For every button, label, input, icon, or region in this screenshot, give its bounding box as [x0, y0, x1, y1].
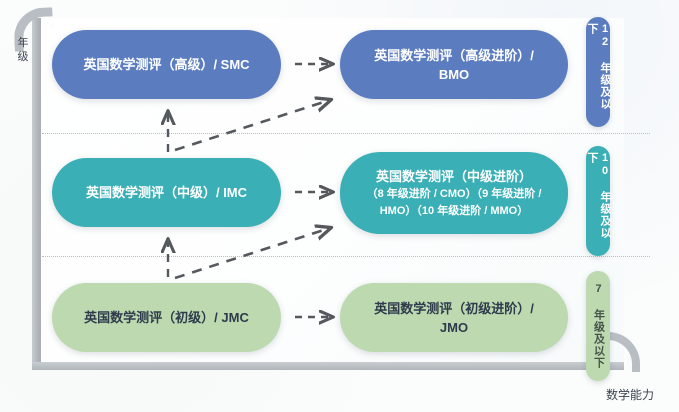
- node-imo-line-2: （8 年级进阶 / CMO）（9 年级进阶 /: [352, 186, 556, 203]
- grade-pill-7: 7 年级及以下: [586, 271, 610, 381]
- x-axis: [32, 362, 624, 370]
- node-jmo-line-2: JMO: [352, 318, 556, 337]
- node-jmo-line-1: 英国数学测评（初级进阶）/: [352, 299, 556, 318]
- node-jmc[interactable]: 英国数学测评（初级）/ JMC: [52, 283, 281, 352]
- y-axis: [32, 18, 41, 368]
- node-imc-line-1: 英国数学测评（中级）/ IMC: [64, 183, 269, 202]
- grade-pill-10: 10 年级及以下: [586, 146, 610, 256]
- node-bmo-line-1: 英国数学测评（高级进阶）/: [352, 46, 556, 65]
- node-imo[interactable]: 英国数学测评（中级进阶） （8 年级进阶 / CMO）（9 年级进阶 / HMO…: [340, 152, 568, 234]
- y-axis-label: 年级: [14, 36, 32, 64]
- x-axis-label: 数学能力: [606, 386, 654, 403]
- diagram-canvas: 年级 数学能力 英国数学测评（高级）/ SMC 英国数学测评（: [0, 0, 679, 412]
- node-imc[interactable]: 英国数学测评（中级）/ IMC: [52, 158, 281, 227]
- node-bmo[interactable]: 英国数学测评（高级进阶）/ BMO: [340, 30, 568, 99]
- node-imo-line-3: HMO）（10 年级进阶 / MMO）: [352, 203, 556, 220]
- node-jmo[interactable]: 英国数学测评（初级进阶）/ JMO: [340, 283, 568, 352]
- band-separator-upper: [42, 133, 650, 134]
- node-bmo-line-2: BMO: [352, 65, 556, 84]
- grade-pill-12: 12 年级及以下: [586, 17, 610, 127]
- node-imo-line-1: 英国数学测评（中级进阶）: [352, 167, 556, 186]
- band-separator-lower: [42, 256, 650, 257]
- node-smc-line-1: 英国数学测评（高级）/ SMC: [64, 55, 269, 74]
- node-smc[interactable]: 英国数学测评（高级）/ SMC: [52, 30, 281, 99]
- node-jmc-line-1: 英国数学测评（初级）/ JMC: [64, 308, 269, 327]
